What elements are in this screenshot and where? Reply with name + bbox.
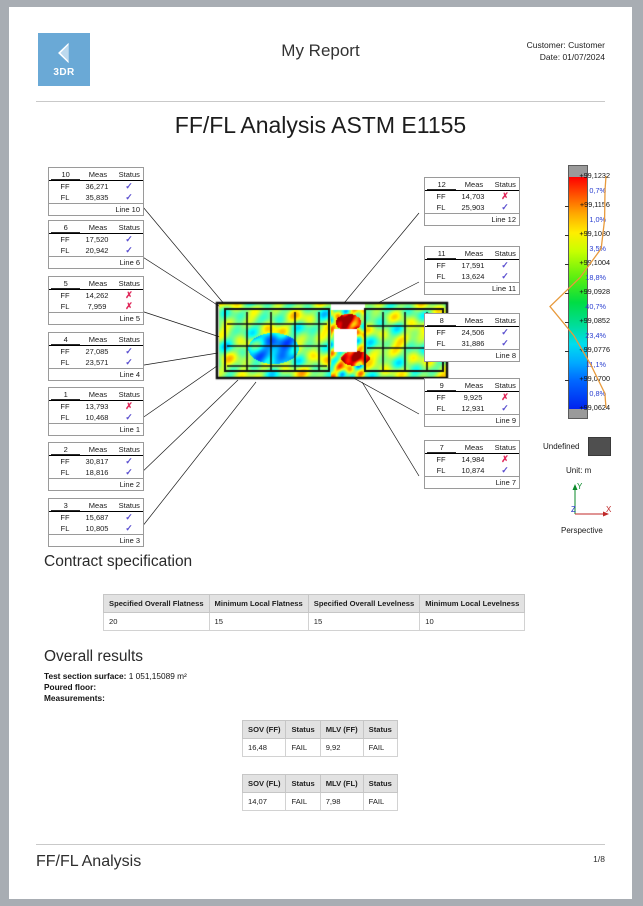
card-ff-value: 13,793	[79, 402, 115, 411]
card-status-header: Status	[492, 249, 519, 258]
card-header: 5MeasStatus	[49, 277, 143, 290]
status-fail-icon: ✗	[125, 290, 133, 300]
card-ff-status: ✓	[115, 182, 143, 191]
column-header: Status	[363, 775, 397, 793]
svg-text:X: X	[606, 505, 612, 514]
card-fl-status: ✓	[491, 404, 519, 413]
card-id: 12	[427, 179, 456, 190]
column-header: Status	[286, 775, 320, 793]
histogram-curve	[546, 165, 610, 421]
contract-table: Specified Overall FlatnessMinimum Local …	[103, 594, 525, 631]
card-id: 6	[51, 222, 80, 233]
fl-results-table: SOV (FL)StatusMLV (FL)Status 14,07FAIL7,…	[242, 774, 398, 811]
card-fl-row: FL25,903✓	[425, 202, 519, 213]
card-footer-label: Line 8	[425, 349, 519, 361]
card-status-header: Status	[116, 170, 143, 179]
card-fl-value: 31,886	[455, 339, 491, 348]
status-pass-icon: ✓	[501, 202, 509, 212]
card-ff-status: ✓	[491, 328, 519, 337]
card-id: 9	[427, 380, 456, 391]
measurement-card-line-5: 5MeasStatusFF14,262✗FL7,959✗Line 5	[48, 276, 144, 325]
card-footer-label: Line 5	[49, 312, 143, 324]
page-title: FF/FL Analysis ASTM E1155	[10, 112, 631, 139]
table-cell: 14,07	[243, 793, 286, 811]
status-fail-icon: ✗	[125, 401, 133, 411]
card-fl-status: ✗	[115, 302, 143, 311]
customer-info: Customer: Customer Date: 01/07/2024	[527, 39, 605, 63]
card-footer-label: Line 1	[49, 423, 143, 435]
card-ff-status: ✗	[491, 393, 519, 402]
card-footer-label: Line 4	[49, 368, 143, 380]
poured-label: Poured floor:	[44, 682, 96, 692]
card-ff-value: 17,591	[455, 261, 491, 270]
card-footer-label: Line 11	[425, 282, 519, 294]
card-fl-value: 10,468	[79, 413, 115, 422]
card-status-header: Status	[116, 279, 143, 288]
card-ff-value: 30,817	[79, 457, 115, 466]
card-fl-status: ✓	[491, 466, 519, 475]
card-fl-label: FL	[49, 524, 79, 533]
card-footer-label: Line 9	[425, 414, 519, 426]
status-pass-icon: ✓	[125, 346, 133, 356]
card-fl-value: 25,903	[455, 203, 491, 212]
column-header: Minimum Local Levelness	[420, 595, 525, 613]
card-ff-status: ✗	[115, 291, 143, 300]
report-sheet: 3DR My Report Customer: Customer Date: 0…	[10, 8, 631, 898]
card-ff-row: FF9,925✗	[425, 392, 519, 403]
card-fl-row: FL12,931✓	[425, 403, 519, 414]
card-meas-header: Meas	[456, 180, 491, 189]
poured-line: Poured floor:	[44, 682, 187, 693]
measurement-card-line-10: 10MeasStatusFF36,271✓FL35,835✓Line 10	[48, 167, 144, 216]
svg-text:Z: Z	[571, 505, 576, 514]
card-id: 5	[51, 278, 80, 289]
card-fl-row: FL10,468✓	[49, 412, 143, 423]
ff-results-table: SOV (FF)StatusMLV (FF)Status 16,48FAIL9,…	[242, 720, 398, 757]
card-fl-row: FL10,874✓	[425, 465, 519, 476]
header-divider	[36, 101, 605, 102]
measurement-card-line-7: 7MeasStatusFF14,984✗FL10,874✓Line 7	[424, 440, 520, 489]
column-header: Specified Overall Levelness	[308, 595, 419, 613]
projection-label: Perspective	[561, 526, 603, 535]
card-fl-status: ✓	[115, 246, 143, 255]
page-number: 1/8	[593, 854, 605, 864]
card-ff-status: ✓	[491, 261, 519, 270]
card-id: 7	[427, 442, 456, 453]
status-fail-icon: ✗	[125, 301, 133, 311]
column-header: MLV (FL)	[320, 775, 363, 793]
card-fl-value: 10,874	[455, 466, 491, 475]
axis-triad-icon: Y X Z	[565, 480, 615, 518]
card-fl-row: FL7,959✗	[49, 301, 143, 312]
card-id: 1	[51, 389, 80, 400]
card-fl-label: FL	[425, 203, 455, 212]
card-status-header: Status	[492, 316, 519, 325]
card-fl-label: FL	[425, 272, 455, 281]
card-id: 11	[427, 248, 456, 259]
floor-heatmap	[215, 300, 450, 382]
table-cell: FAIL	[286, 739, 320, 757]
status-fail-icon: ✗	[501, 191, 509, 201]
column-header: SOV (FL)	[243, 775, 286, 793]
undefined-label: Undefined	[543, 442, 579, 451]
status-pass-icon: ✓	[125, 456, 133, 466]
card-ff-row: FF30,817✓	[49, 456, 143, 467]
card-ff-label: FF	[49, 235, 79, 244]
card-fl-status: ✓	[491, 272, 519, 281]
card-fl-value: 12,931	[455, 404, 491, 413]
card-status-header: Status	[116, 390, 143, 399]
table-row: 16,48FAIL9,92FAIL	[243, 739, 398, 757]
card-footer-label: Line 7	[425, 476, 519, 488]
column-header: Specified Overall Flatness	[104, 595, 210, 613]
card-ff-status: ✓	[115, 513, 143, 522]
card-ff-label: FF	[49, 513, 79, 522]
card-id: 8	[427, 315, 456, 326]
card-ff-label: FF	[425, 328, 455, 337]
measurement-card-line-11: 11MeasStatusFF17,591✓FL13,624✓Line 11	[424, 246, 520, 295]
card-fl-value: 20,942	[79, 246, 115, 255]
card-ff-value: 14,262	[79, 291, 115, 300]
card-meas-header: Meas	[80, 445, 115, 454]
card-fl-value: 10,805	[79, 524, 115, 533]
card-fl-row: FL31,886✓	[425, 338, 519, 349]
status-pass-icon: ✓	[125, 234, 133, 244]
status-pass-icon: ✓	[125, 512, 133, 522]
card-ff-value: 17,520	[79, 235, 115, 244]
table-cell: 16,48	[243, 739, 286, 757]
card-fl-status: ✓	[491, 203, 519, 212]
status-fail-icon: ✗	[501, 392, 509, 402]
card-ff-status: ✓	[115, 347, 143, 356]
table-cell: 9,92	[320, 739, 363, 757]
status-pass-icon: ✓	[125, 467, 133, 477]
card-fl-row: FL35,835✓	[49, 192, 143, 203]
card-header: 7MeasStatus	[425, 441, 519, 454]
card-fl-status: ✓	[115, 524, 143, 533]
card-meas-header: Meas	[80, 279, 115, 288]
status-pass-icon: ✓	[501, 260, 509, 270]
card-ff-status: ✓	[115, 235, 143, 244]
card-header: 9MeasStatus	[425, 379, 519, 392]
card-fl-label: FL	[49, 193, 79, 202]
table-cell: FAIL	[286, 793, 320, 811]
card-ff-label: FF	[425, 192, 455, 201]
card-fl-value: 7,959	[79, 302, 115, 311]
status-fail-icon: ✗	[501, 454, 509, 464]
card-id: 4	[51, 334, 80, 345]
undefined-legend: Undefined	[543, 437, 611, 456]
card-header: 2MeasStatus	[49, 443, 143, 456]
card-fl-label: FL	[49, 468, 79, 477]
status-pass-icon: ✓	[125, 523, 133, 533]
card-status-header: Status	[116, 223, 143, 232]
card-ff-row: FF17,591✓	[425, 260, 519, 271]
card-fl-label: FL	[425, 466, 455, 475]
measurements-label: Measurements:	[44, 693, 105, 703]
status-pass-icon: ✓	[125, 192, 133, 202]
card-ff-row: FF15,687✓	[49, 512, 143, 523]
card-meas-header: Meas	[456, 443, 491, 452]
card-footer-label: Line 3	[49, 534, 143, 546]
card-fl-status: ✓	[115, 358, 143, 367]
card-ff-value: 14,984	[455, 455, 491, 464]
status-pass-icon: ✓	[501, 327, 509, 337]
card-fl-row: FL10,805✓	[49, 523, 143, 534]
footer-divider	[36, 844, 605, 845]
status-pass-icon: ✓	[125, 181, 133, 191]
surface-value: 1 051,15089 m²	[129, 671, 187, 681]
card-fl-row: FL18,816✓	[49, 467, 143, 478]
card-ff-status: ✗	[491, 192, 519, 201]
contract-heading: Contract specification	[44, 553, 192, 571]
measurement-card-line-2: 2MeasStatusFF30,817✓FL18,816✓Line 2	[48, 442, 144, 491]
card-fl-status: ✓	[115, 468, 143, 477]
card-id: 3	[51, 500, 80, 511]
card-ff-value: 27,085	[79, 347, 115, 356]
card-footer-label: Line 10	[49, 203, 143, 215]
status-pass-icon: ✓	[501, 403, 509, 413]
measurements-line: Measurements:	[44, 693, 187, 704]
card-status-header: Status	[492, 443, 519, 452]
table-cell: 15	[308, 613, 419, 631]
card-ff-row: FF13,793✗	[49, 401, 143, 412]
card-fl-value: 35,835	[79, 193, 115, 202]
card-meas-header: Meas	[456, 316, 491, 325]
card-ff-row: FF14,262✗	[49, 290, 143, 301]
card-fl-label: FL	[49, 302, 79, 311]
footer-title: FF/FL Analysis	[36, 853, 141, 871]
table-cell: 20	[104, 613, 210, 631]
card-header: 4MeasStatus	[49, 333, 143, 346]
status-pass-icon: ✓	[501, 465, 509, 475]
table-row: 14,07FAIL7,98FAIL	[243, 793, 398, 811]
measurement-card-line-9: 9MeasStatusFF9,925✗FL12,931✓Line 9	[424, 378, 520, 427]
column-header: Minimum Local Flatness	[209, 595, 308, 613]
card-ff-value: 15,687	[79, 513, 115, 522]
undefined-swatch	[588, 437, 611, 456]
overall-meta: Test section surface: 1 051,15089 m² Pou…	[44, 671, 187, 704]
column-header: Status	[363, 721, 397, 739]
card-footer-label: Line 2	[49, 478, 143, 490]
card-fl-status: ✓	[115, 193, 143, 202]
column-header: Status	[286, 721, 320, 739]
card-header: 3MeasStatus	[49, 499, 143, 512]
card-header: 1MeasStatus	[49, 388, 143, 401]
card-header: 6MeasStatus	[49, 221, 143, 234]
card-meas-header: Meas	[456, 249, 491, 258]
card-meas-header: Meas	[80, 170, 115, 179]
card-ff-label: FF	[49, 402, 79, 411]
table-cell: 7,98	[320, 793, 363, 811]
card-ff-label: FF	[49, 291, 79, 300]
card-fl-status: ✓	[491, 339, 519, 348]
table-header-row: SOV (FL)StatusMLV (FL)Status	[243, 775, 398, 793]
logo-label: 3DR	[53, 67, 74, 78]
card-fl-label: FL	[425, 404, 455, 413]
card-ff-label: FF	[425, 455, 455, 464]
overall-heading: Overall results	[44, 648, 143, 666]
surface-line: Test section surface: 1 051,15089 m²	[44, 671, 187, 682]
card-status-header: Status	[116, 501, 143, 510]
table-cell: 15	[209, 613, 308, 631]
card-header: 12MeasStatus	[425, 178, 519, 191]
table-row: 20151510	[104, 613, 525, 631]
card-fl-status: ✓	[115, 413, 143, 422]
document-page: 3DR My Report Customer: Customer Date: 0…	[0, 0, 643, 906]
card-meas-header: Meas	[80, 223, 115, 232]
measurement-card-line-6: 6MeasStatusFF17,520✓FL20,942✓Line 6	[48, 220, 144, 269]
card-ff-status: ✗	[491, 455, 519, 464]
column-header: MLV (FF)	[320, 721, 363, 739]
status-pass-icon: ✓	[125, 357, 133, 367]
card-footer-label: Line 12	[425, 213, 519, 225]
status-pass-icon: ✓	[125, 412, 133, 422]
card-fl-row: FL23,571✓	[49, 357, 143, 368]
card-footer-label: Line 6	[49, 256, 143, 268]
card-ff-label: FF	[49, 457, 79, 466]
card-fl-label: FL	[49, 358, 79, 367]
card-fl-value: 13,624	[455, 272, 491, 281]
customer-line: Customer: Customer	[527, 39, 605, 51]
card-id: 2	[51, 444, 80, 455]
card-status-header: Status	[492, 381, 519, 390]
card-id: 10	[51, 169, 80, 180]
card-ff-row: FF14,703✗	[425, 191, 519, 202]
card-ff-row: FF24,506✓	[425, 327, 519, 338]
card-status-header: Status	[116, 335, 143, 344]
heatmap-canvas	[215, 300, 450, 382]
status-pass-icon: ✓	[125, 245, 133, 255]
card-header: 10MeasStatus	[49, 168, 143, 181]
card-fl-value: 23,571	[79, 358, 115, 367]
card-ff-label: FF	[425, 393, 455, 402]
card-meas-header: Meas	[80, 335, 115, 344]
status-pass-icon: ✓	[501, 338, 509, 348]
measurement-card-line-12: 12MeasStatusFF14,703✗FL25,903✓Line 12	[424, 177, 520, 226]
card-status-header: Status	[492, 180, 519, 189]
card-fl-label: FL	[49, 413, 79, 422]
card-meas-header: Meas	[456, 381, 491, 390]
status-pass-icon: ✓	[501, 271, 509, 281]
table-header-row: SOV (FF)StatusMLV (FF)Status	[243, 721, 398, 739]
card-ff-row: FF36,271✓	[49, 181, 143, 192]
card-ff-label: FF	[425, 261, 455, 270]
card-meas-header: Meas	[80, 390, 115, 399]
card-ff-value: 9,925	[455, 393, 491, 402]
card-status-header: Status	[116, 445, 143, 454]
svg-text:Y: Y	[577, 482, 583, 491]
card-fl-label: FL	[425, 339, 455, 348]
card-header: 11MeasStatus	[425, 247, 519, 260]
measurement-card-line-3: 3MeasStatusFF15,687✓FL10,805✓Line 3	[48, 498, 144, 547]
card-ff-status: ✓	[115, 457, 143, 466]
card-meas-header: Meas	[80, 501, 115, 510]
measurement-card-line-8: 8MeasStatusFF24,506✓FL31,886✓Line 8	[424, 313, 520, 362]
card-ff-value: 36,271	[79, 182, 115, 191]
card-header: 8MeasStatus	[425, 314, 519, 327]
card-fl-row: FL13,624✓	[425, 271, 519, 282]
column-header: SOV (FF)	[243, 721, 286, 739]
unit-label: Unit: m	[566, 466, 591, 475]
card-fl-value: 18,816	[79, 468, 115, 477]
card-fl-row: FL20,942✓	[49, 245, 143, 256]
card-fl-label: FL	[49, 246, 79, 255]
card-ff-row: FF14,984✗	[425, 454, 519, 465]
card-ff-row: FF27,085✓	[49, 346, 143, 357]
date-line: Date: 01/07/2024	[527, 51, 605, 63]
table-cell: FAIL	[363, 793, 397, 811]
table-cell: FAIL	[363, 739, 397, 757]
table-header-row: Specified Overall FlatnessMinimum Local …	[104, 595, 525, 613]
card-ff-label: FF	[49, 182, 79, 191]
card-ff-label: FF	[49, 347, 79, 356]
card-ff-row: FF17,520✓	[49, 234, 143, 245]
card-ff-value: 14,703	[455, 192, 491, 201]
surface-label: Test section surface:	[44, 671, 126, 681]
card-ff-value: 24,506	[455, 328, 491, 337]
measurement-card-line-4: 4MeasStatusFF27,085✓FL23,571✓Line 4	[48, 332, 144, 381]
card-ff-status: ✗	[115, 402, 143, 411]
measurement-card-line-1: 1MeasStatusFF13,793✗FL10,468✓Line 1	[48, 387, 144, 436]
table-cell: 10	[420, 613, 525, 631]
